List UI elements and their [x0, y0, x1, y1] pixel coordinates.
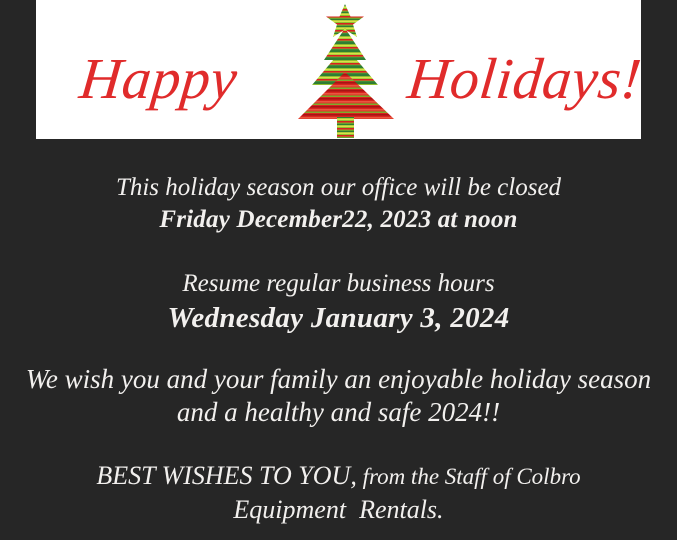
holiday-message-body: This holiday season our office will be c…: [0, 139, 677, 526]
signoff-emphasis: BEST WISHES TO YOU,: [96, 461, 357, 490]
banner-word-holidays: Holidays!: [405, 50, 641, 108]
closure-date-line: Friday December22, 2023 at noon: [0, 203, 677, 236]
reopen-line-1: Resume regular business hours: [0, 268, 677, 300]
closure-paragraph: This holiday season our office will be c…: [0, 172, 677, 236]
signoff-paragraph: BEST WISHES TO YOU, from the Staff of Co…: [0, 459, 677, 526]
holiday-banner-image: Happy Holidays!: [36, 0, 641, 139]
christmas-tree-striped-icon: [294, 2, 410, 139]
reopen-paragraph: Resume regular business hours Wednesday …: [0, 268, 677, 336]
signoff-line-1: BEST WISHES TO YOU, from the Staff of Co…: [0, 459, 677, 493]
reopen-date-line: Wednesday January 3, 2024: [0, 300, 677, 336]
closure-line-1: This holiday season our office will be c…: [0, 172, 677, 203]
wishes-line-1: We wish you and your family an enjoyable…: [0, 362, 677, 396]
wishes-paragraph: We wish you and your family an enjoyable…: [0, 362, 677, 429]
wishes-line-2: and a healthy and safe 2024!!: [0, 396, 677, 429]
signoff-rest: from the Staff of Colbro: [357, 464, 581, 489]
signoff-line-2: Equipment Rentals.: [0, 493, 677, 526]
banner-word-happy: Happy: [77, 50, 240, 108]
